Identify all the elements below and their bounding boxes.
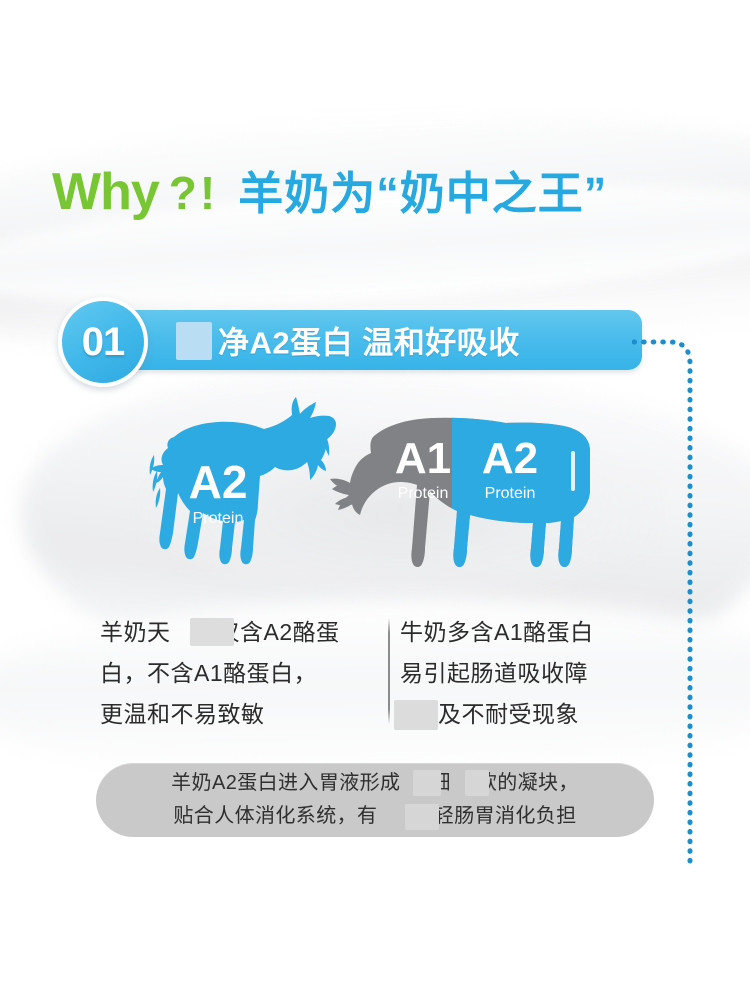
note-line-2: 贴合人体消化系统，有减轻肠胃消化负担 bbox=[96, 800, 654, 833]
masked-character-chip bbox=[465, 770, 489, 796]
masked-character-chip bbox=[405, 804, 439, 830]
page-headline: Why ?! 羊奶为“奶中之王” bbox=[52, 157, 607, 222]
goat-protein-word: Protein bbox=[193, 510, 244, 527]
goat-desc-line1-before: 羊奶天 bbox=[100, 619, 171, 645]
cow-a2-protein-word: Protein bbox=[485, 485, 536, 502]
summary-note-pill: 羊奶A2蛋白进入胃液形成细软的凝块， 贴合人体消化系统，有减轻肠胃消化负担 bbox=[96, 763, 654, 837]
masked-character-chip bbox=[176, 322, 212, 360]
section-number-badge: 01 bbox=[58, 297, 148, 387]
goat-desc-line-1: 羊奶天仅含A2酪蛋 bbox=[100, 612, 362, 653]
protein-comparison-illustration: A2 Protein A1 Protein bbox=[140, 393, 630, 603]
note-line-1: 羊奶A2蛋白进入胃液形成细软的凝块， bbox=[96, 767, 654, 800]
masked-character-chip bbox=[413, 770, 441, 796]
cow-desc-line-2: 易引起肠道吸收障 bbox=[400, 653, 662, 694]
goat-milk-description: 羊奶天仅含A2酪蛋 白，不含A1酪蛋白， 更温和不易致敏 bbox=[100, 612, 362, 735]
masked-character-chip bbox=[394, 700, 438, 730]
section-number: 01 bbox=[82, 320, 125, 365]
note-line2-a: 贴合人体消化系统，有 bbox=[173, 805, 377, 827]
masked-character-chip bbox=[190, 618, 234, 646]
cow-desc-line-1: 牛奶多含A1酪蛋白 bbox=[400, 612, 662, 653]
cow-desc-line3-after: 及不耐受现象 bbox=[438, 701, 579, 727]
goat-protein-code: A2 bbox=[189, 456, 248, 508]
headline-question-exclaim: ?! bbox=[169, 166, 218, 220]
goat-desc-line-2: 白，不含A1酪蛋白， bbox=[100, 653, 362, 694]
section-header-bar: 净A2蛋白 温和好吸收 bbox=[108, 310, 642, 370]
goat-desc-line1-after: 仅含A2酪蛋 bbox=[217, 619, 340, 645]
comparison-text-block: 羊奶天仅含A2酪蛋 白，不含A1酪蛋白， 更温和不易致敏 牛奶多含A1酪蛋白 易… bbox=[96, 612, 666, 737]
dotted-connector-line bbox=[632, 316, 750, 881]
cow-desc-line-3: 及不耐受现象 bbox=[400, 694, 662, 735]
goat-desc-line-3: 更温和不易致敏 bbox=[100, 694, 362, 735]
cow-a1-protein-word: Protein bbox=[398, 485, 449, 502]
cow-a2-protein-code: A2 bbox=[482, 434, 538, 483]
note-line1-a: 羊奶A2蛋白进入胃液形成 bbox=[171, 772, 400, 794]
cow-a1-protein-code: A1 bbox=[395, 434, 451, 483]
cow-milk-description: 牛奶多含A1酪蛋白 易引起肠道吸收障 及不耐受现象 bbox=[400, 612, 662, 735]
summary-note-text: 羊奶A2蛋白进入胃液形成细软的凝块， 贴合人体消化系统，有减轻肠胃消化负担 bbox=[96, 767, 654, 833]
column-divider bbox=[388, 618, 390, 724]
headline-chinese: 羊奶为“奶中之王” bbox=[238, 157, 607, 222]
headline-why: Why bbox=[52, 162, 159, 222]
note-line1-c: 软的凝块， bbox=[477, 772, 579, 794]
section-title: 净A2蛋白 温和好吸收 bbox=[218, 318, 520, 363]
